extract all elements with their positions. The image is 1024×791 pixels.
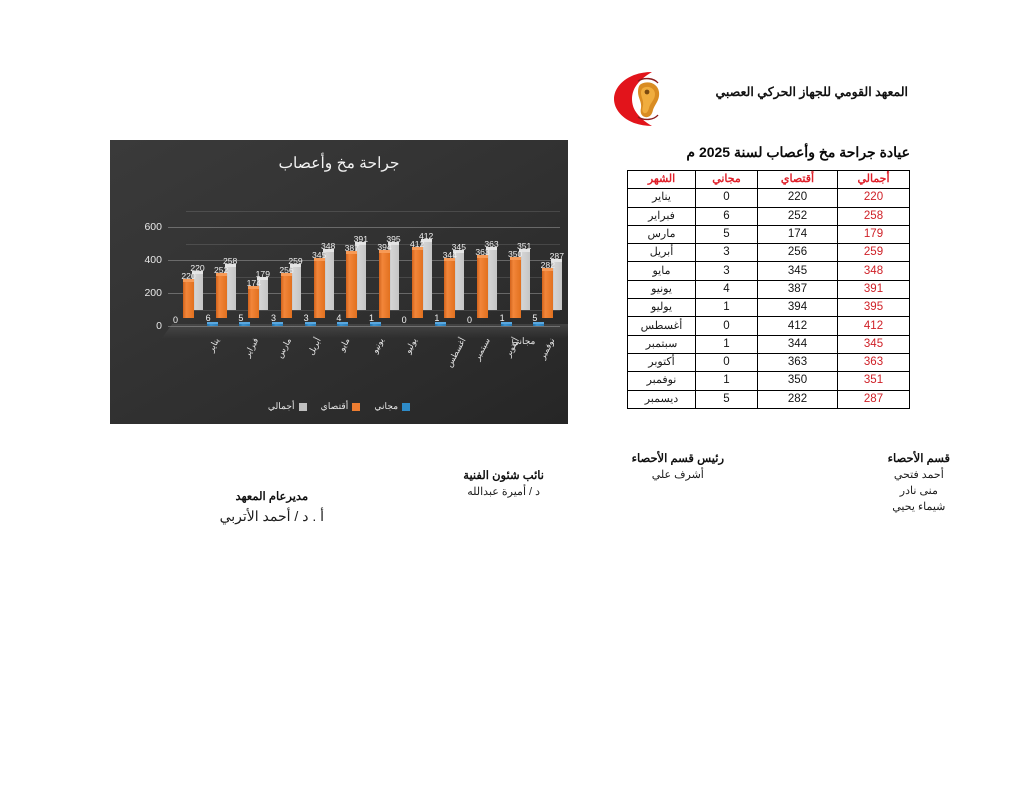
column-header-total: أجمالي (838, 171, 910, 189)
x-axis-category-label: مارس (275, 336, 294, 360)
cell-month: يونيو (628, 280, 696, 298)
chart-bar[interactable] (248, 289, 259, 318)
y-axis-tick-label: 400 (144, 254, 162, 266)
chart-data-label: 0 (467, 315, 472, 325)
cell-month: مارس (628, 225, 696, 243)
cell-total: 395 (838, 299, 910, 317)
chart-bar[interactable] (183, 282, 194, 318)
cell-economic: 344 (758, 335, 838, 353)
cell-month: يوليو (628, 299, 696, 317)
cell-month: أغسطس (628, 317, 696, 335)
chart-bar[interactable] (346, 254, 357, 318)
document-header: المعهد القومي للجهاز الحركي العصبي (608, 66, 908, 134)
table-row: 2592563أبريل (628, 244, 910, 262)
cell-month: أكتوبر (628, 353, 696, 371)
chart-data-label: 345 (311, 250, 328, 260)
chart-data-label: 282 (539, 260, 556, 270)
cell-free: 1 (696, 335, 758, 353)
chart-bar[interactable] (444, 261, 455, 318)
cell-total: 179 (838, 225, 910, 243)
signature-block-head-of-statistics: رئيس قسم الأحصاء أشرف علي (632, 451, 724, 483)
x-axis-category-label: يناير (206, 336, 222, 353)
legend-label: أجمالي (268, 401, 295, 412)
x-axis-category-label: يوليو (403, 336, 419, 355)
chart-bar[interactable] (435, 324, 446, 327)
table-row: 2202200يناير (628, 189, 910, 207)
red-crescent-logo-icon (608, 68, 674, 130)
table-row: 1791745مارس (628, 225, 910, 243)
y-axis-tick-label: 0 (156, 320, 162, 332)
x-axis-category-label: أبريل (306, 336, 323, 357)
x-axis-category-label: سبتمبر (472, 336, 492, 362)
table-row: 4124120أغسطس (628, 317, 910, 335)
chart-legend: مجانيأقتصايأجمالي (110, 401, 568, 412)
signature-block-technical-affairs-vice: نائب شئون الفنية د / أميرة عبدالله (463, 468, 544, 500)
cell-free: 4 (696, 280, 758, 298)
cell-total: 391 (838, 280, 910, 298)
chart-bar[interactable] (207, 324, 218, 327)
chart-bar[interactable] (216, 276, 227, 318)
table-row: 2582526فبراير (628, 207, 910, 225)
cell-free: 5 (696, 225, 758, 243)
cell-total: 287 (838, 390, 910, 408)
chart-data-label: 0 (173, 315, 178, 325)
cell-economic: 252 (758, 207, 838, 225)
table-row: 2872825ديسمبر (628, 390, 910, 408)
cell-month: مايو (628, 262, 696, 280)
chart-data-label: 252 (213, 265, 230, 275)
chart-bar[interactable] (510, 260, 521, 318)
table-header-row: أجمالي أقتصاي مجاني الشهر (628, 171, 910, 189)
cell-total: 258 (838, 207, 910, 225)
cell-total: 345 (838, 335, 910, 353)
legend-color-swatch (402, 403, 410, 411)
x-axis-category-label: يونيو (370, 336, 386, 355)
chart-bar[interactable] (337, 324, 348, 327)
table-row: 3913874يونيو (628, 280, 910, 298)
chart-data-label: 1 (369, 313, 374, 323)
chart-bar[interactable] (477, 258, 488, 318)
chart-bar[interactable] (501, 324, 512, 327)
cell-total: 363 (838, 353, 910, 371)
chart-data-label: 0 (402, 315, 407, 325)
chart-data-label: 256 (278, 265, 295, 275)
chart-data-label: 3 (271, 313, 276, 323)
signature-role: مديرعام المعهد (220, 489, 324, 505)
column-header-month: الشهر (628, 171, 696, 189)
chart-data-label: 220 (180, 271, 197, 281)
chart-bars-layer: 2202581792593483913954123453633512872202… (168, 210, 560, 330)
bar-chart-panel[interactable]: جراحة مخ وأعصاب 0200400600 2202581792593… (110, 140, 568, 424)
chart-data-label: 1 (434, 313, 439, 323)
cell-free: 3 (696, 262, 758, 280)
legend-item[interactable]: أقتصاي (321, 401, 361, 412)
chart-data-label: 412 (409, 239, 426, 249)
legend-label: مجاني (374, 401, 398, 412)
x-axis-category-label: مايو (336, 336, 351, 353)
cell-total: 412 (838, 317, 910, 335)
signature-name: أشرف علي (632, 467, 724, 483)
cell-month: ديسمبر (628, 390, 696, 408)
cell-free: 0 (696, 353, 758, 371)
chart-bar[interactable] (272, 324, 283, 327)
chart-data-label: 350 (507, 249, 524, 259)
legend-item[interactable]: أجمالي (268, 401, 307, 412)
table-row: 3513501نوفمبر (628, 372, 910, 390)
cell-total: 351 (838, 372, 910, 390)
column-header-economic: أقتصاي (758, 171, 838, 189)
legend-label: أقتصاي (321, 401, 349, 412)
chart-bar[interactable] (281, 276, 292, 318)
cell-economic: 387 (758, 280, 838, 298)
cell-month: فبراير (628, 207, 696, 225)
chart-bar[interactable] (314, 261, 325, 318)
chart-data-label: 394 (376, 242, 393, 252)
signature-name: أ . د / أحمد الأتربي (220, 505, 324, 527)
signature-role: رئيس قسم الأحصاء (632, 451, 724, 467)
table-row: 3633630أكتوبر (628, 353, 910, 371)
signature-block-institute-director: مديرعام المعهد أ . د / أحمد الأتربي (220, 489, 324, 527)
chart-bar[interactable] (379, 253, 390, 318)
cell-total: 348 (838, 262, 910, 280)
cell-economic: 282 (758, 390, 838, 408)
table-row: 3953941يوليو (628, 299, 910, 317)
chart-data-label: 363 (474, 247, 491, 257)
cell-free: 6 (696, 207, 758, 225)
chart-title: جراحة مخ وأعصاب (110, 154, 568, 173)
cell-free: 0 (696, 317, 758, 335)
chart-data-label: 6 (206, 313, 211, 323)
cell-month: سبتمبر (628, 335, 696, 353)
chart-bar[interactable] (533, 324, 544, 327)
chart-data-label: 3 (304, 313, 309, 323)
signature-name: منى نادر (888, 483, 950, 499)
chart-depth-axis-label: مجاني (512, 336, 535, 347)
x-axis-category-label: نوفمبر (537, 336, 556, 361)
legend-color-swatch (352, 403, 360, 411)
table-row: 3453441سبتمبر (628, 335, 910, 353)
cell-month: أبريل (628, 244, 696, 262)
x-axis-category-label: أغسطس (443, 336, 467, 369)
chart-bar[interactable] (542, 271, 553, 318)
signature-block-statistics-department: قسم الأحصاء أحمد فتحي منى نادر شيماء يحي… (888, 451, 950, 515)
x-axis-category-label: فبراير (241, 336, 259, 359)
signature-role: نائب شئون الفنية (463, 468, 544, 484)
signature-name: شيماء يحيي (888, 499, 950, 515)
chart-data-label: 1 (500, 313, 505, 323)
chart-data-label: 387 (343, 243, 360, 253)
signature-name: أحمد فتحي (888, 467, 950, 483)
cell-free: 3 (696, 244, 758, 262)
cell-economic: 363 (758, 353, 838, 371)
cell-economic: 174 (758, 225, 838, 243)
cell-month: يناير (628, 189, 696, 207)
chart-bar[interactable] (370, 324, 381, 327)
table-row: 3483453مايو (628, 262, 910, 280)
organization-title: المعهد القومي للجهاز الحركي العصبي (715, 84, 908, 99)
chart-data-label: 344 (441, 250, 458, 260)
column-header-free: مجاني (696, 171, 758, 189)
chart-data-label: 4 (336, 313, 341, 323)
y-axis-tick-label: 600 (144, 221, 162, 233)
cell-free: 5 (696, 390, 758, 408)
chart-data-label: 5 (532, 313, 537, 323)
y-axis-tick-label: 200 (144, 287, 162, 299)
cell-economic: 256 (758, 244, 838, 262)
chart-bar[interactable] (239, 324, 250, 327)
legend-color-swatch (299, 403, 307, 411)
statistics-table: أجمالي أقتصاي مجاني الشهر 2202200يناير25… (627, 170, 910, 409)
cell-free: 1 (696, 299, 758, 317)
signature-name: د / أميرة عبدالله (463, 484, 544, 500)
cell-economic: 412 (758, 317, 838, 335)
cell-total: 259 (838, 244, 910, 262)
report-title: عيادة جراحة مخ وأعصاب لسنة 2025 م (686, 144, 910, 161)
cell-economic: 345 (758, 262, 838, 280)
cell-free: 0 (696, 189, 758, 207)
cell-economic: 350 (758, 372, 838, 390)
cell-free: 1 (696, 372, 758, 390)
chart-bar[interactable] (305, 324, 316, 327)
chart-data-label: 5 (238, 313, 243, 323)
chart-bar[interactable] (412, 250, 423, 318)
cell-total: 220 (838, 189, 910, 207)
cell-month: نوفمبر (628, 372, 696, 390)
signature-role: قسم الأحصاء (888, 451, 950, 467)
cell-economic: 394 (758, 299, 838, 317)
statistics-table-container: أجمالي أقتصاي مجاني الشهر 2202200يناير25… (627, 170, 909, 409)
legend-item[interactable]: مجاني (374, 401, 410, 412)
chart-data-label: 174 (245, 278, 262, 288)
cell-economic: 220 (758, 189, 838, 207)
